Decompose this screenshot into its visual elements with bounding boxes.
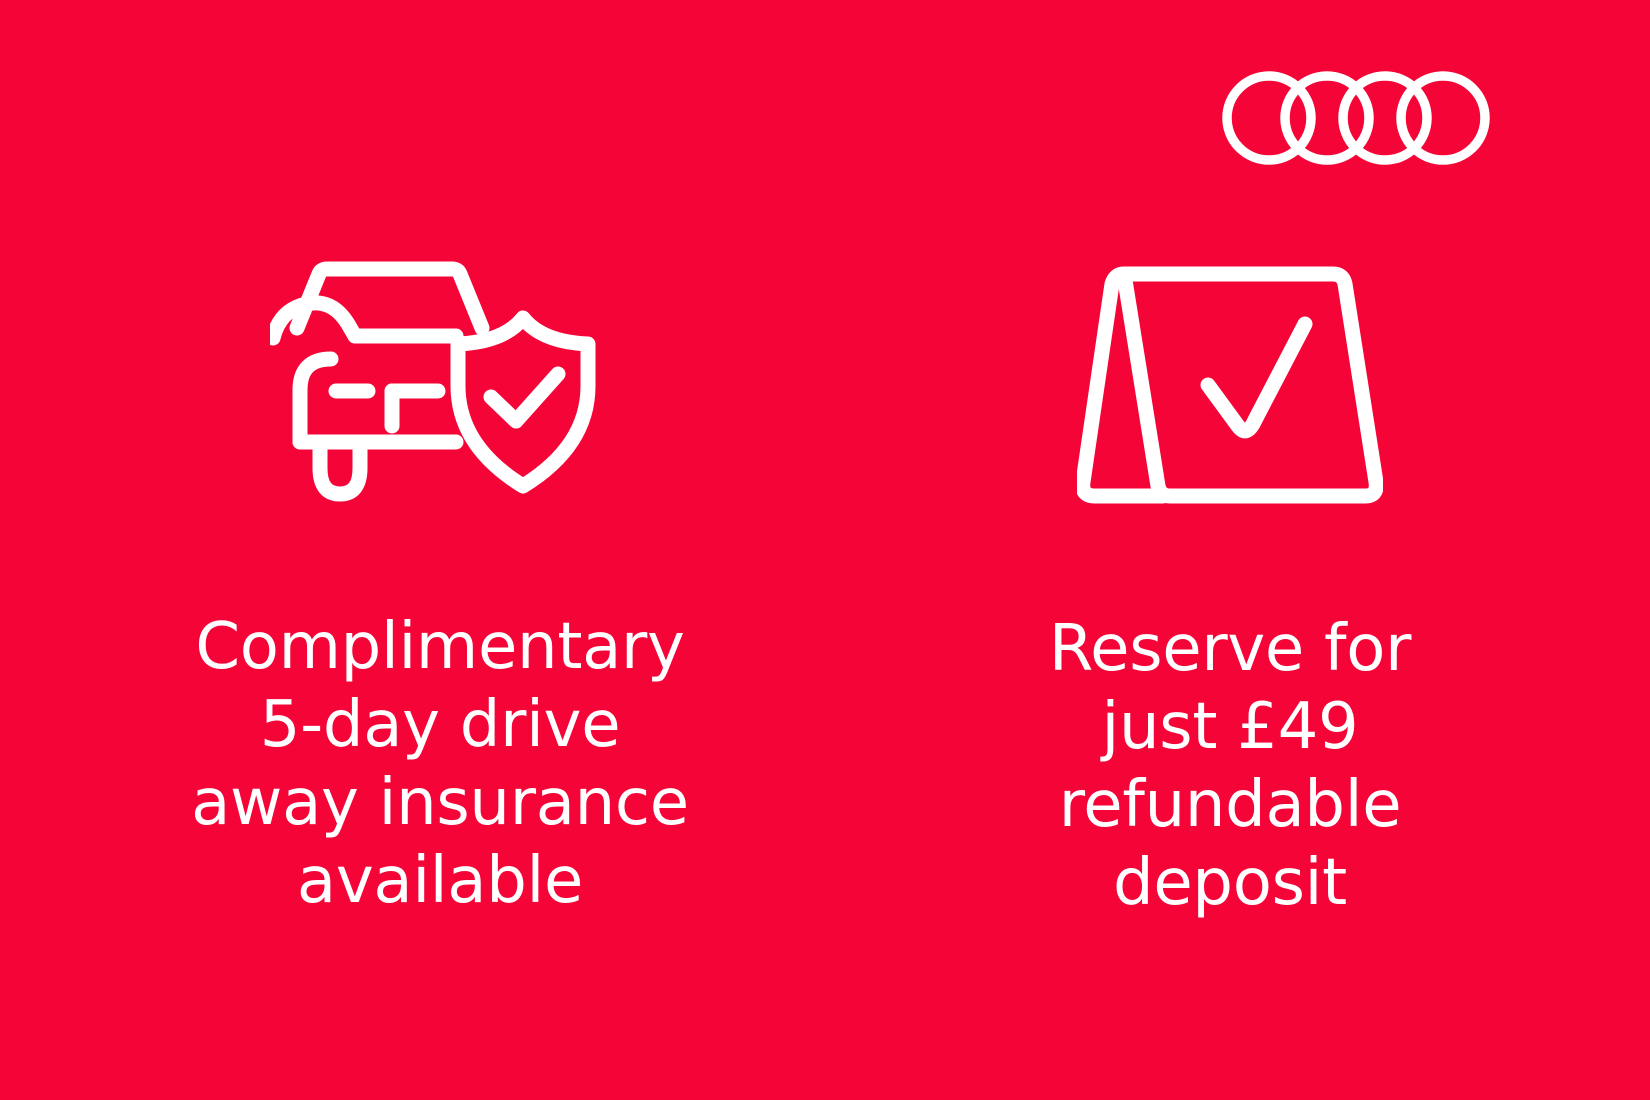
reserve-card-check-icon	[1077, 260, 1383, 510]
car-shield-icon	[270, 260, 610, 510]
feature-deposit-text: Reserve for just £49 refundable deposit	[1049, 610, 1411, 922]
promo-banner: Complimentary 5-day drive away insurance…	[0, 0, 1650, 1100]
audi-rings-logo	[1222, 68, 1494, 168]
feature-insurance-text: Complimentary 5-day drive away insurance…	[191, 608, 689, 920]
feature-insurance: Complimentary 5-day drive away insurance…	[60, 260, 820, 920]
feature-deposit: Reserve for just £49 refundable deposit	[880, 260, 1580, 922]
audi-rings-icon	[1222, 68, 1494, 168]
